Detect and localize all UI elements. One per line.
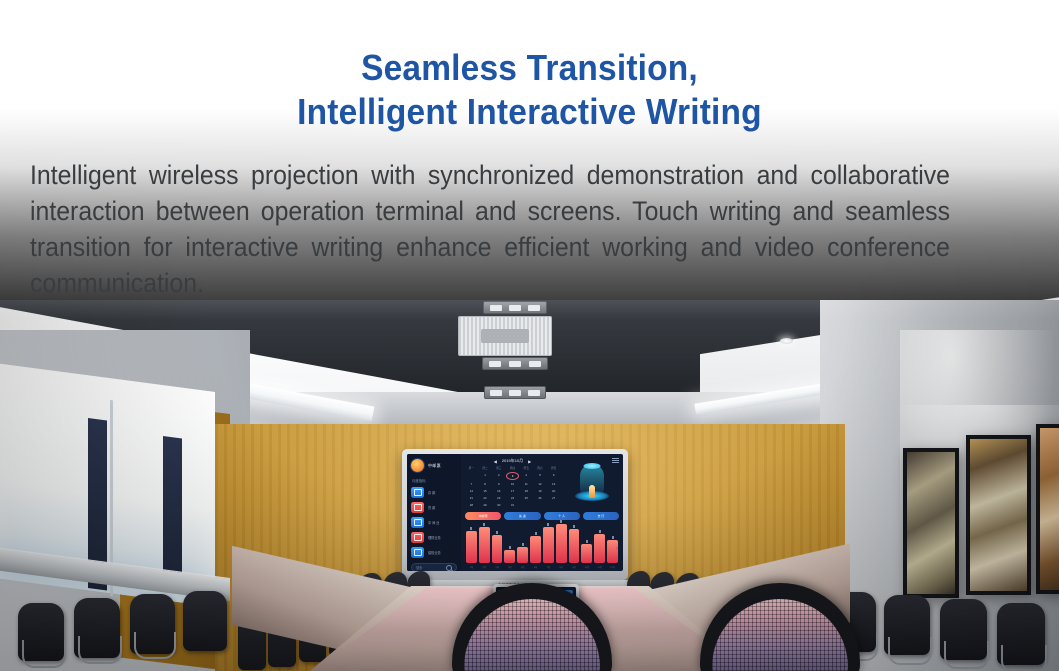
calendar-day[interactable]: 1: [479, 472, 492, 480]
calendar-day[interactable]: 28: [465, 502, 478, 508]
sidebar-item-label: 贷 款: [428, 505, 435, 510]
downlight-icon: [780, 338, 793, 344]
bar: [492, 535, 503, 563]
loan-icon: [411, 502, 424, 513]
bar: [530, 536, 541, 563]
headline-line-1: Seamless Transition,: [361, 47, 698, 88]
calendar-day-selected[interactable]: 3: [506, 472, 519, 480]
calendar-day[interactable]: 8: [479, 481, 492, 487]
calendar-day[interactable]: 10: [506, 481, 519, 487]
chevron-right-icon[interactable]: ▶: [528, 459, 531, 464]
calendar-weekday-row: 周一 周二 周三 周四 周五 周六 周日: [465, 466, 560, 470]
tab-1[interactable]: 先 进: [504, 512, 540, 520]
x-tick-label: 2月: [479, 565, 490, 569]
bar: [556, 524, 567, 563]
tab-label: 中邮惠: [479, 514, 488, 518]
calendar-day[interactable]: [534, 502, 547, 508]
calendar-day[interactable]: 26: [534, 495, 547, 501]
deposit-icon: [411, 487, 424, 498]
interactive-flat-panel-display[interactable]: 中邮惠 月度指标 存 款 贷 款 中 间 业: [402, 449, 628, 580]
x-tick-label: 3月: [492, 565, 503, 569]
recessed-spotlight-bar: [484, 386, 546, 399]
framed-painting: [903, 448, 959, 598]
sidebar-item-loan[interactable]: 贷 款: [411, 502, 457, 513]
calendar-day[interactable]: 27: [547, 495, 560, 501]
ceiling-air-vent: [458, 316, 552, 356]
x-tick-label: 4月: [504, 565, 515, 569]
chair-chrome-leg: [1001, 645, 1047, 671]
x-tick-label: 7月: [543, 565, 554, 569]
window-blind: [163, 436, 182, 591]
calendar-day[interactable]: 19: [534, 488, 547, 494]
rocket-launch-icon: [565, 458, 619, 508]
chair-chrome-leg: [134, 632, 176, 659]
calendar-day[interactable]: 7: [465, 481, 478, 487]
sidebar-item-finance[interactable]: 理财业务: [411, 532, 457, 543]
finance-icon: [411, 532, 424, 543]
calendar-day[interactable]: 2: [492, 472, 505, 480]
bar: [543, 527, 554, 563]
calendar-day[interactable]: 12: [534, 481, 547, 487]
weekday-label: 周六: [534, 466, 547, 470]
dashboard-top-row: ◀ 2019年10月 ▶ 周一 周二 周三 周四 周五 周六: [465, 458, 619, 508]
calendar-day[interactable]: 29: [479, 502, 492, 508]
bar: [594, 534, 605, 563]
calendar-day[interactable]: 20: [547, 488, 560, 494]
chevron-right-icon[interactable]: ›: [616, 546, 618, 552]
calendar-day[interactable]: 30: [492, 502, 505, 508]
bar: [581, 544, 592, 563]
calendar-header: ◀ 2019年10月 ▶: [465, 458, 560, 464]
calendar-day[interactable]: 18: [520, 488, 533, 494]
x-tick-label: 5月: [517, 565, 528, 569]
sidebar-item-insurance[interactable]: 保险业务: [411, 547, 457, 558]
calendar-grid[interactable]: 1 2 3 4 5 6 7 8 9 10 11: [465, 472, 560, 508]
user-avatar-icon: [411, 459, 424, 472]
weekday-label: 周四: [506, 466, 519, 470]
calendar-widget[interactable]: ◀ 2019年10月 ▶ 周一 周二 周三 周四 周五 周六: [465, 458, 560, 508]
recessed-spotlight-bar: [483, 301, 547, 314]
chair-mesh-back: [464, 599, 600, 671]
weekday-label: 周五: [520, 466, 533, 470]
recessed-spotlight-bar: [482, 357, 548, 370]
insurance-icon: [411, 547, 424, 558]
x-tick-label: 1月: [466, 565, 477, 569]
chair-chrome-leg: [888, 637, 932, 665]
tab-0[interactable]: 中邮惠: [465, 512, 501, 520]
calendar-title: 2019年10月: [502, 458, 523, 464]
x-tick-label: 12月: [607, 565, 618, 569]
dashboard-main: ◀ 2019年10月 ▶ 周一 周二 周三 周四 周五 周六: [461, 454, 623, 571]
calendar-day[interactable]: 4: [520, 472, 533, 480]
x-tick-label: 8月: [556, 565, 567, 569]
calendar-day[interactable]: 15: [479, 488, 492, 494]
chair-chrome-leg: [78, 636, 122, 664]
tab-2[interactable]: 个 人: [544, 512, 580, 520]
sidebar-user: 中邮惠: [411, 459, 457, 472]
tab-label: 先 进: [519, 514, 526, 518]
calendar-day[interactable]: 5: [534, 472, 547, 480]
sidebar-item-label: 理财业务: [428, 535, 441, 540]
calendar-day[interactable]: 11: [520, 481, 533, 487]
bar: [504, 550, 515, 563]
tab-label: 个 人: [558, 514, 565, 518]
search-input[interactable]: 搜索: [411, 563, 457, 571]
calendar-day[interactable]: 25: [520, 495, 533, 501]
calendar-day[interactable]: 23: [492, 495, 505, 501]
bar: [466, 531, 477, 563]
calendar-day[interactable]: 6: [547, 472, 560, 480]
calendar-day[interactable]: [520, 502, 533, 508]
description-text: Intelligent wireless projection with syn…: [30, 157, 950, 301]
weekday-label: 周三: [492, 466, 505, 470]
tab-3[interactable]: 支 行: [583, 512, 619, 520]
weekday-label: 周日: [547, 466, 560, 470]
bar: [569, 529, 580, 563]
bar: [517, 547, 528, 563]
chair-chrome-leg: [944, 641, 989, 669]
calendar-day[interactable]: [465, 472, 478, 480]
x-tick-label: 11月: [594, 565, 605, 569]
calendar-day[interactable]: 13: [547, 481, 560, 487]
x-tick-label: 6月: [530, 565, 541, 569]
user-name: 中邮惠: [428, 463, 441, 469]
x-axis: 1月2月3月4月5月6月7月8月9月10月11月12月: [466, 565, 618, 569]
display-screen[interactable]: 中邮惠 月度指标 存 款 贷 款 中 间 业: [407, 454, 623, 571]
calendar-day[interactable]: 24: [506, 495, 519, 501]
x-tick-label: 10月: [581, 565, 592, 569]
search-icon: [446, 565, 452, 571]
headline-line-2: Intelligent Interactive Writing: [37, 90, 1022, 134]
chair-mesh-back: [712, 599, 848, 671]
hologram-beam-top: [584, 463, 601, 469]
calendar-day[interactable]: 21: [465, 495, 478, 501]
calendar-day[interactable]: 17: [506, 488, 519, 494]
side-chair: [183, 591, 227, 651]
weekday-label: 周二: [479, 466, 492, 470]
sidebar-item-label: 中 间 业: [428, 520, 439, 525]
calendar-day[interactable]: [547, 502, 560, 508]
page-title: Seamless Transition, Intelligent Interac…: [37, 46, 1022, 134]
sidebar-item-label: 存 款: [428, 490, 435, 495]
business-icon: [411, 517, 424, 528]
search-placeholder: 搜索: [416, 565, 422, 570]
calendar-day[interactable]: 16: [492, 488, 505, 494]
sidebar-item-business[interactable]: 中 间 业: [411, 517, 457, 528]
promotional-banner: 中邮惠 月度指标 存 款 贷 款 中 间 业: [0, 0, 1059, 671]
sidebar-item-deposit[interactable]: 存 款: [411, 487, 457, 498]
tab-label: 支 行: [597, 514, 604, 518]
framed-painting: [966, 435, 1031, 595]
calendar-day[interactable]: 31: [506, 502, 519, 508]
bar: [479, 527, 490, 563]
chair-chrome-leg: [22, 640, 66, 668]
rocket-body-icon: [589, 485, 595, 498]
sidebar-section-label: 月度指标: [412, 478, 457, 483]
weekday-label: 周一: [465, 466, 478, 470]
dashboard-sidebar[interactable]: 中邮惠 月度指标 存 款 贷 款 中 间 业: [407, 454, 461, 571]
chevron-left-icon[interactable]: ◀: [494, 459, 497, 464]
x-tick-label: 9月: [569, 565, 580, 569]
calendar-day[interactable]: 9: [492, 481, 505, 487]
calendar-day[interactable]: 14: [465, 488, 478, 494]
framed-painting: [1036, 424, 1059, 594]
sidebar-item-label: 保险业务: [428, 550, 441, 555]
calendar-day[interactable]: 22: [479, 495, 492, 501]
dashboard-tabs[interactable]: 中邮惠 先 进 个 人 支 行: [465, 512, 619, 520]
bar-chart: › 1月2月3月4月5月6月7月8月9月10月11月12月: [465, 523, 619, 570]
